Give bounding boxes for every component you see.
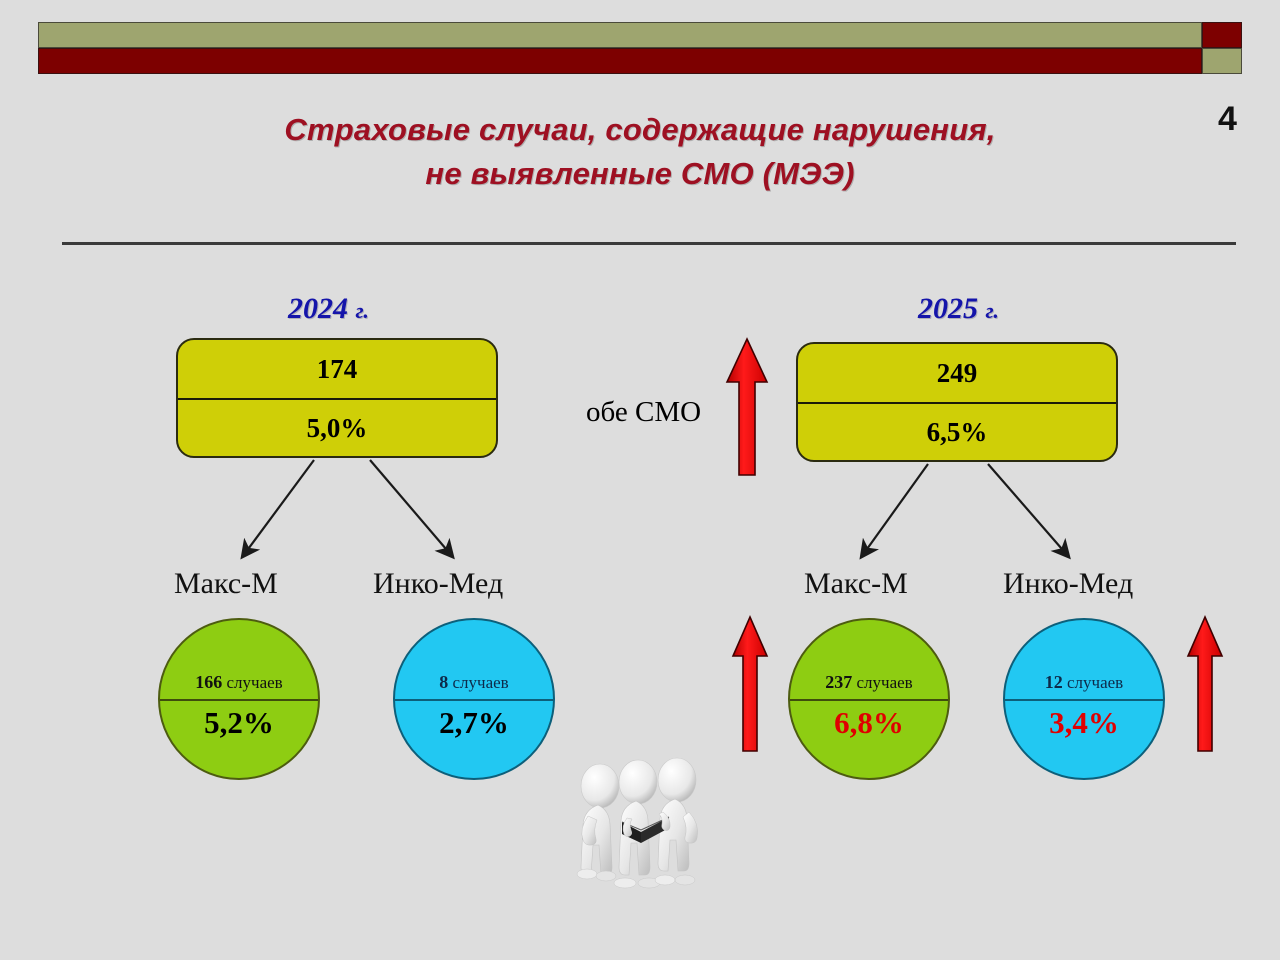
circle-cases-value: 12 — [1045, 672, 1063, 692]
connector-2024-maks — [243, 460, 314, 556]
summary-count-2025: 249 — [798, 344, 1116, 402]
figure-left — [577, 764, 619, 881]
banner-olive-long — [38, 22, 1202, 48]
circle-cases-word: случаев — [1067, 673, 1123, 692]
summary-percent-2025: 6,5% — [798, 402, 1116, 460]
trend-arrow-up-both-smo — [724, 336, 770, 478]
header-banner-top-row — [38, 22, 1242, 48]
banner-darkred-long — [38, 48, 1202, 74]
connector-2025-inko — [988, 464, 1068, 556]
metric-circle-inko-2024: 8 случаев 2,7% — [393, 618, 555, 780]
company-label-inko-2025: Инко-Мед — [1003, 567, 1133, 601]
circle-percent-row: 3,4% — [1005, 699, 1163, 778]
both-smo-label: обе СМО — [586, 396, 701, 429]
year-label-2024: 2024 г. — [288, 292, 369, 326]
circle-cases-row: 12 случаев — [1005, 620, 1163, 699]
summary-count-2024: 174 — [178, 340, 496, 398]
circle-percent-row: 5,2% — [160, 699, 318, 778]
circle-cases-value: 237 — [825, 672, 852, 692]
summary-box-2025: 249 6,5% — [796, 342, 1118, 462]
header-banner — [38, 22, 1242, 74]
year-label-2025-value: 2025 — [918, 292, 978, 325]
circle-cases-inko-2025: 12 случаев — [1045, 672, 1123, 693]
year-label-2025: 2025 г. — [918, 292, 999, 326]
people-reading-document-illustration — [565, 750, 715, 910]
company-label-maks-2024: Макс-М — [174, 567, 278, 601]
circle-cases-row: 237 случаев — [790, 620, 948, 699]
year-label-2024-suffix: г. — [356, 298, 369, 323]
header-banner-bottom-row — [38, 48, 1242, 74]
summary-percent-2024: 5,0% — [178, 398, 496, 456]
circle-percent-inko-2025: 3,4% — [1049, 705, 1119, 741]
metric-circle-maks-2025: 237 случаев 6,8% — [788, 618, 950, 780]
year-label-2025-suffix: г. — [986, 298, 999, 323]
year-label-2024-value: 2024 — [288, 292, 348, 325]
connector-2024-inko — [370, 460, 452, 556]
circle-percent-row: 2,7% — [395, 699, 553, 778]
circle-cases-word: случаев — [453, 673, 509, 692]
circle-cases-row: 166 случаев — [160, 620, 318, 699]
circle-cases-value: 8 — [439, 672, 448, 692]
circle-percent-inko-2024: 2,7% — [439, 705, 509, 741]
circle-cases-inko-2024: 8 случаев — [439, 672, 508, 693]
trend-arrow-up-maks-2025 — [730, 614, 770, 754]
circle-percent-maks-2025: 6,8% — [834, 705, 904, 741]
page-title-line1: Страховые случаи, содержащие нарушения, — [284, 112, 995, 147]
page-title-line2: не выявленные СМО (МЭЭ) — [0, 152, 1280, 196]
trend-arrow-up-inko-2025 — [1185, 614, 1225, 754]
page-title: Страховые случаи, содержащие нарушения, … — [0, 108, 1280, 196]
metric-circle-maks-2024: 166 случаев 5,2% — [158, 618, 320, 780]
circle-cases-row: 8 случаев — [395, 620, 553, 699]
circle-cases-word: случаев — [857, 673, 913, 692]
title-divider — [62, 242, 1236, 245]
connector-2025-maks — [862, 464, 928, 556]
banner-olive-short — [1202, 48, 1242, 74]
circle-cases-word: случаев — [227, 673, 283, 692]
circle-cases-maks-2024: 166 случаев — [195, 672, 282, 693]
summary-box-2024: 174 5,0% — [176, 338, 498, 458]
metric-circle-inko-2025: 12 случаев 3,4% — [1003, 618, 1165, 780]
circle-cases-value: 166 — [195, 672, 222, 692]
circle-cases-maks-2025: 237 случаев — [825, 672, 912, 693]
company-label-inko-2024: Инко-Мед — [373, 567, 503, 601]
circle-percent-row: 6,8% — [790, 699, 948, 778]
banner-darkred-short — [1202, 22, 1242, 48]
company-label-maks-2025: Макс-М — [804, 567, 908, 601]
circle-percent-maks-2024: 5,2% — [204, 705, 274, 741]
